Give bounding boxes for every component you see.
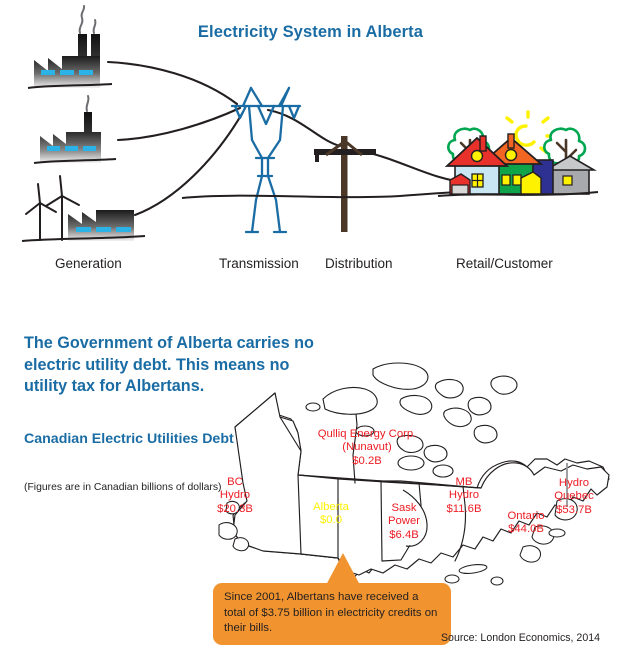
utility-pole-icon <box>314 136 376 232</box>
houses-icon <box>438 112 598 196</box>
map-label-sask: Sask Power $6.4B <box>371 502 437 542</box>
map-label-bc: BC Hydro $20.3B <box>197 476 273 516</box>
factory-icon <box>34 96 116 163</box>
electricity-system-diagram <box>0 0 621 250</box>
map-label-quebec: Hydro Quebec $53.7B <box>537 477 611 517</box>
transmission-tower-icon <box>232 88 300 232</box>
stage-label-retail: Retail/Customer <box>456 256 553 271</box>
source-note: Source: London Economics, 2014 <box>0 632 600 644</box>
stage-label-transmission: Transmission <box>219 256 299 271</box>
ground-line <box>182 190 492 198</box>
power-lines <box>108 62 470 215</box>
map-label-nunavut: Qulliq Energy Corp. (Nunavut) $0.2B <box>277 428 457 468</box>
stage-label-distribution: Distribution <box>325 256 393 271</box>
infographic-page: Electricity System in Alberta <box>0 0 621 665</box>
stage-label-generation: Generation <box>55 256 122 271</box>
callout-pointer <box>325 553 361 587</box>
map-label-alberta: Alberta $0.0 <box>295 501 367 528</box>
factory-icon <box>28 6 112 88</box>
great-lakes <box>445 563 503 585</box>
map-label-nl: NL Hydro $7.2B <box>535 438 621 465</box>
